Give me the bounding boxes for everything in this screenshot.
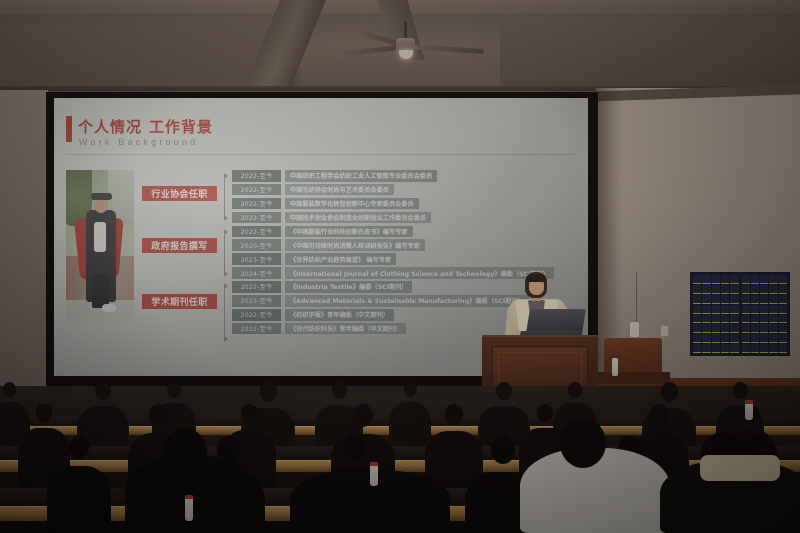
rack-cell [702, 334, 710, 343]
rack-cell [769, 334, 777, 343]
rack-cell [769, 295, 777, 304]
rack-cell [712, 275, 720, 284]
presenter-hair [527, 274, 546, 282]
slide-title-secondary: 工作背景 [149, 118, 213, 136]
ceiling-slab-right [500, 15, 800, 94]
audience-member-head [568, 382, 582, 398]
rack-cell [730, 305, 738, 314]
water-bottle [185, 495, 193, 521]
timeline-row-date: 2022-至今 [232, 226, 281, 238]
timeline-row-date: 2023-至今 [232, 295, 281, 307]
photo-person-shoe [102, 304, 116, 312]
audience-member-body [47, 466, 111, 533]
bottle-cap [185, 495, 193, 499]
audience-member-head [445, 404, 463, 425]
connector-line [224, 286, 225, 340]
water-bottle [370, 462, 378, 486]
rack-cell [751, 344, 759, 353]
timeline-row-text: 中国技术创业协会制造业创新创业工作委员会委员 [285, 212, 431, 224]
rack-cell [779, 305, 787, 314]
rack-cell [730, 315, 738, 324]
rack-cell [751, 275, 759, 284]
rack-cell [693, 295, 701, 304]
rack-cell [742, 315, 750, 324]
rack-cell [769, 344, 777, 353]
wall-numbered-rack [690, 272, 790, 356]
rack-cell [751, 295, 759, 304]
audience-member-head [491, 436, 515, 464]
audience-member-head [733, 382, 748, 399]
rack-cell [760, 334, 768, 343]
rack-cell [730, 334, 738, 343]
rack-cell [702, 305, 710, 314]
connector-arrow [224, 229, 228, 235]
connector-arrow [224, 173, 228, 179]
timeline-row-text: 中国服装数字化转型创新中心专家委员会委员 [285, 198, 419, 210]
rack-cell [721, 275, 729, 284]
rack-cell [742, 305, 750, 314]
timeline-row-date: 2022-至今 [232, 212, 281, 224]
rack-cell [760, 315, 768, 324]
rack-cell [730, 285, 738, 294]
audience-member-head [241, 404, 258, 424]
rack-cell [760, 285, 768, 294]
rack-cell [751, 305, 759, 314]
portrait-photo [66, 170, 134, 322]
timeline-row-date: 2022-至今 [232, 198, 281, 210]
rack-cell [742, 334, 750, 343]
rack-cell [760, 344, 768, 353]
rack-cell [712, 324, 720, 333]
rack-cell [712, 315, 720, 324]
rack-cell [693, 285, 701, 294]
timeline-row-date: 2020-至今 [232, 239, 281, 251]
rack-cell [742, 295, 750, 304]
timeline-row: 2022-至今中国服装数字化转型创新中心专家委员会委员 [232, 198, 580, 210]
connector-line [224, 232, 225, 276]
rack-cell [769, 315, 777, 324]
rack-cell [721, 334, 729, 343]
category-label-government: 政府报告撰写 [142, 238, 217, 253]
page-title: 个人情况工作背景 [78, 116, 213, 137]
timeline-row: 2022-至今中国纺织工程学会纺织工业人工智能专业委员会委员 [232, 170, 580, 182]
connector-line [224, 176, 225, 220]
connector-arrow [224, 336, 228, 342]
rack-cell [702, 324, 710, 333]
connector-arrow [224, 283, 228, 289]
audience-member-head [260, 382, 277, 402]
rack-cell [721, 324, 729, 333]
timeline-row: 2020-至今《中国可持续时尚消费人群调研报告》编写专家 [232, 239, 580, 251]
rack-cell [712, 305, 720, 314]
audience-member-head [344, 436, 365, 460]
rack-section-left [693, 275, 739, 353]
rack-cell [751, 315, 759, 324]
rack-cell [712, 334, 720, 343]
rack-cell [769, 305, 777, 314]
slide-subtitle: Work Background [79, 137, 198, 147]
cord-switch-box [630, 322, 639, 337]
rack-cell [779, 275, 787, 284]
rack-cell [760, 295, 768, 304]
rack-cell [760, 305, 768, 314]
timeline-row: 2022-至今中国技术创业协会制造业创新创业工作委员会委员 [232, 212, 580, 224]
rack-cell [742, 285, 750, 294]
wall-power-socket [660, 325, 669, 337]
connector-arrow [224, 215, 228, 221]
rack-cell [730, 275, 738, 284]
timeline-row-date: 2022-至今 [232, 281, 281, 293]
audience-member-head [353, 404, 373, 427]
audience-member-head [167, 382, 181, 398]
timeline-row-date: 2023-至今 [232, 253, 281, 265]
timeline-row-date: 2024-至今 [232, 267, 281, 279]
rack-cell [693, 334, 701, 343]
rack-cell [702, 285, 710, 294]
rack-cell [721, 305, 729, 314]
audience-member-head [661, 382, 678, 402]
bottle-cap [745, 400, 753, 404]
rack-cell [721, 285, 729, 294]
water-bottle [612, 358, 618, 376]
hanging-cord [636, 272, 637, 324]
audience-member-head [404, 382, 417, 397]
rack-cell [702, 295, 710, 304]
rack-cell [712, 344, 720, 353]
timeline-row-text: 《纺织学报》青年编委（中文期刊） [285, 309, 394, 321]
rack-cell [721, 315, 729, 324]
photo-person-legs [92, 274, 109, 308]
timeline-row-text: 中国毛纺协会时尚与艺术委员会委员 [285, 184, 394, 196]
rack-cell [779, 334, 787, 343]
audience-member-head [69, 436, 89, 459]
audience-member-head [560, 418, 606, 468]
rack-cell [779, 344, 787, 353]
rack-cell [751, 324, 759, 333]
photo-graduation-cap [91, 193, 112, 200]
rack-cell [769, 275, 777, 284]
slide-title-primary: 个人情况 [78, 118, 142, 136]
rack-cell [769, 285, 777, 294]
rack-cell [742, 324, 750, 333]
category-label-industry: 行业协会任职 [142, 186, 217, 201]
rack-cell [693, 305, 701, 314]
rack-cell [742, 275, 750, 284]
connector-arrow [224, 271, 228, 277]
timeline-row: 2022-至今《中国服装行业科技创新白皮书》编写专家 [232, 226, 580, 238]
chair-seat [598, 372, 670, 384]
audience-member-head [650, 404, 669, 426]
title-accent-bar [66, 116, 72, 142]
rack-cell [730, 324, 738, 333]
lecture-hall-scene: 个人情况工作背景 Work Background 行业协会任职 政府报告撰写 [0, 0, 800, 533]
rack-cell [721, 344, 729, 353]
rack-cell [779, 285, 787, 294]
rack-cell [779, 315, 787, 324]
rack-cell [693, 324, 701, 333]
photo-person-shirt [94, 222, 106, 252]
audience-member-head [332, 382, 347, 399]
rack-cell [730, 295, 738, 304]
rack-cell [702, 275, 710, 284]
audience-member-head [149, 404, 168, 426]
audience-member-head [163, 428, 207, 476]
desk-bag [700, 455, 780, 481]
rack-cell [702, 344, 710, 353]
water-bottle [745, 400, 753, 420]
rack-cell [742, 344, 750, 353]
rack-cell [712, 285, 720, 294]
rack-section-right [742, 275, 788, 353]
rack-cell [779, 295, 787, 304]
timeline-row-text: 《中国服装行业科技创新白皮书》编写专家 [285, 226, 413, 238]
timeline-row-date: 2022-至今 [232, 170, 281, 182]
rack-cell [693, 315, 701, 324]
timeline-row-text: 《世界纺织产业趋势展望》 编写专家 [285, 253, 396, 265]
rack-cell [721, 295, 729, 304]
rack-cell [693, 275, 701, 284]
rack-cell [693, 344, 701, 353]
timeline-row-text: 《现代纺织科技》青年编委（中文期刊） [285, 323, 406, 335]
timeline-row: 2023-至今《世界纺织产业趋势展望》 编写专家 [232, 253, 580, 265]
rack-cell [760, 324, 768, 333]
rack-cell [730, 344, 738, 353]
rack-cell [751, 334, 759, 343]
timeline-row-date: 2022-至今 [232, 323, 281, 335]
timeline-row: 2022-至今中国毛纺协会时尚与艺术委员会委员 [232, 184, 580, 196]
bottle-cap [370, 462, 378, 466]
rack-cell [779, 324, 787, 333]
timeline-row-date: 2022-至今 [232, 309, 281, 321]
timeline-row-text: 中国纺织工程学会纺织工业人工智能专业委员会委员 [285, 170, 437, 182]
laptop-screen [526, 309, 586, 333]
rack-cell [751, 285, 759, 294]
timeline-row-text: 《Industria Textile》编委（SCI期刊） [285, 281, 412, 293]
category-label-journal: 学术期刊任职 [142, 294, 217, 309]
rack-cell [769, 324, 777, 333]
title-divider [66, 154, 574, 155]
audience-member-head [3, 382, 16, 397]
wall-left [0, 90, 48, 420]
rack-cell [702, 315, 710, 324]
timeline-row-text: 《中国可持续时尚消费人群调研报告》编写专家 [285, 239, 425, 251]
rack-cell [760, 275, 768, 284]
rack-cell [712, 295, 720, 304]
timeline-row-date: 2022-至今 [232, 184, 281, 196]
